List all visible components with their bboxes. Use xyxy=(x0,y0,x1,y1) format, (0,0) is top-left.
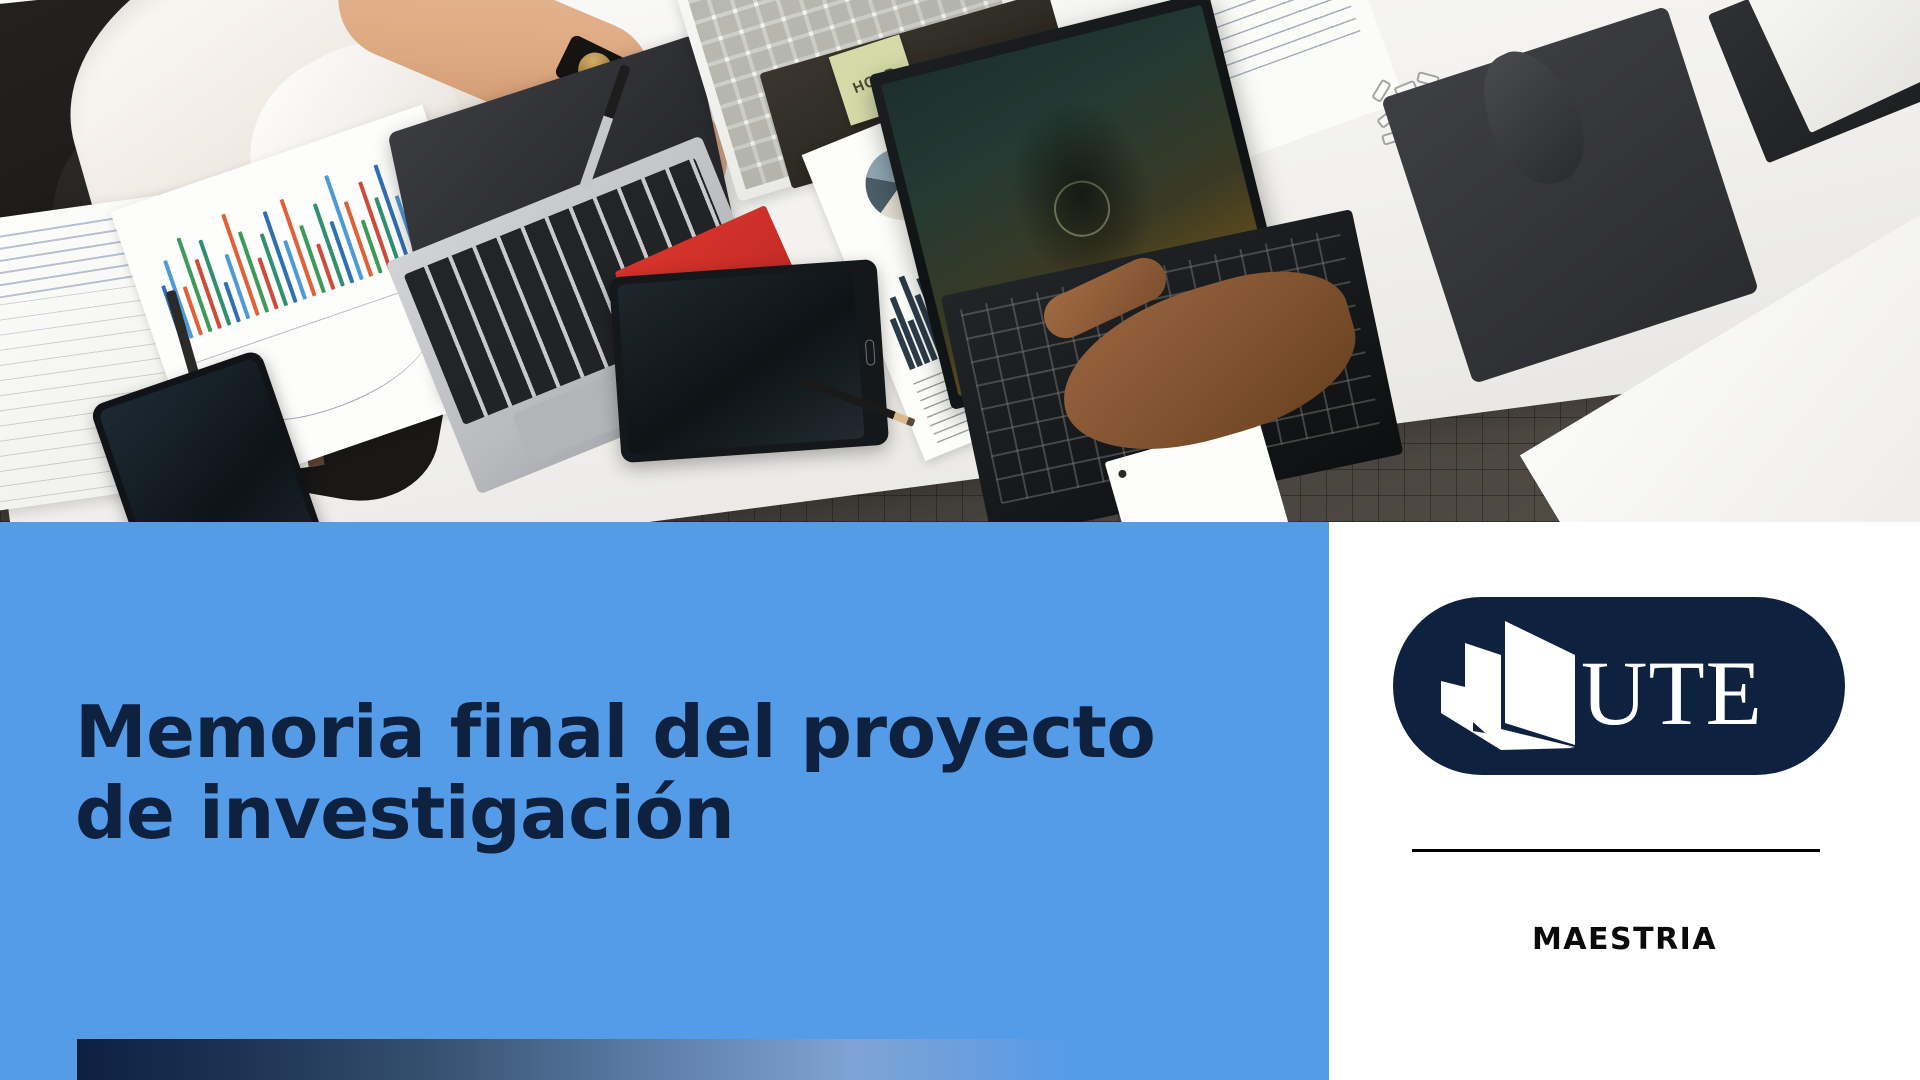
hero-photo: 1 2 HOLD xyxy=(0,0,1920,522)
ute-logo: UTE xyxy=(1393,597,1845,775)
branding-panel: UTE MAESTRIA xyxy=(1329,522,1920,1080)
program-label: MAESTRIA xyxy=(1329,922,1920,957)
presentation-slide: 1 2 HOLD xyxy=(0,0,1920,1080)
open-book-icon xyxy=(1439,619,1579,755)
logo-wordmark: UTE xyxy=(1581,647,1763,739)
divider xyxy=(1412,849,1820,852)
page-title: Memoria final del proyecto de investigac… xyxy=(75,692,1175,853)
tablet xyxy=(609,259,889,463)
page-title-line-1: Memoria final del proyecto xyxy=(75,692,1175,773)
title-panel: Memoria final del proyecto de investigac… xyxy=(0,522,1329,1080)
tablet-home-button xyxy=(865,339,876,366)
notepad-hole xyxy=(1117,469,1127,479)
page-title-line-2: de investigación xyxy=(75,773,1175,854)
accent-gradient-bar xyxy=(77,1039,1329,1080)
tablet-screen xyxy=(617,269,864,455)
screen-logo-icon xyxy=(1048,175,1116,243)
